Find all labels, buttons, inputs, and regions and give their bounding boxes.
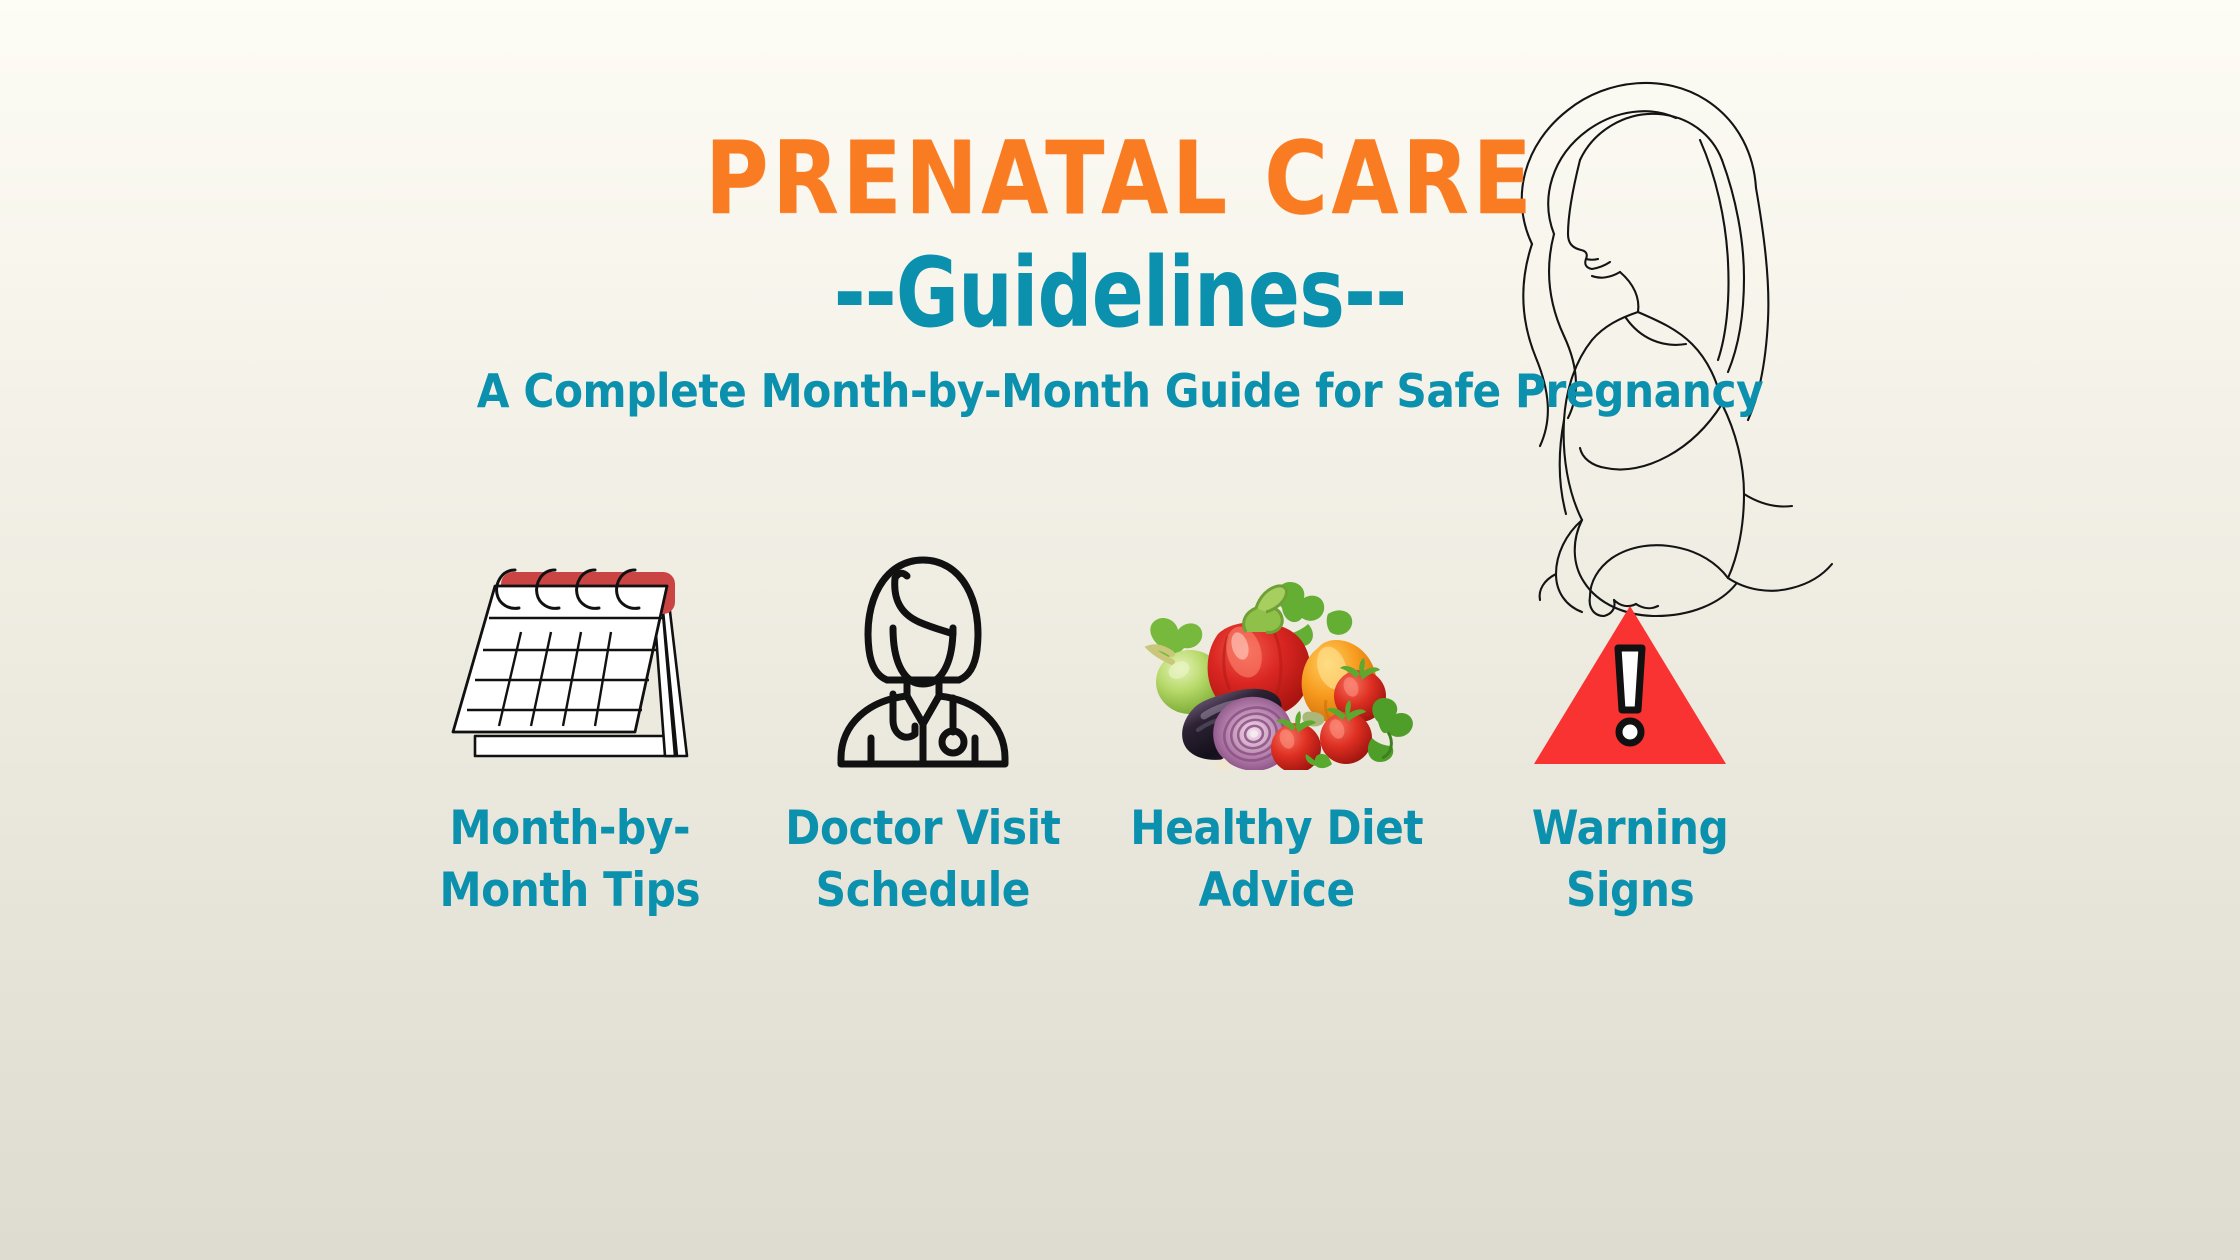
prenatal-care-poster: PRENATAL CARE --Guidelines-- A Complete … <box>0 0 2240 1260</box>
feature-label: Doctor Visit Schedule <box>786 798 1061 922</box>
feature-icon-slot <box>400 520 740 770</box>
feature-icon-slot <box>1460 520 1800 770</box>
page-title: PRENATAL CARE <box>157 0 2083 229</box>
page-subtitle: --Guidelines-- <box>224 229 2016 344</box>
feature-healthy-diet-advice: Healthy Diet Advice <box>1107 520 1447 922</box>
feature-row: Month-by- Month Tips <box>400 520 1800 922</box>
feature-month-by-month-tips: Month-by- Month Tips <box>400 520 740 922</box>
desk-calendar-icon <box>439 560 701 770</box>
headline-block: PRENATAL CARE --Guidelines-- A Complete … <box>0 0 2240 414</box>
feature-icon-slot <box>1107 520 1447 770</box>
feature-warning-signs: Warning Signs <box>1460 520 1800 922</box>
feature-icon-slot <box>753 520 1093 770</box>
feature-label: Healthy Diet Advice <box>1130 798 1423 922</box>
vegetables-icon <box>1132 570 1422 770</box>
feature-doctor-visit-schedule: Doctor Visit Schedule <box>753 520 1093 922</box>
feature-label: Month-by- Month Tips <box>440 798 701 922</box>
doctor-icon <box>823 538 1023 770</box>
warning-triangle-icon <box>1530 600 1730 770</box>
page-tagline: A Complete Month-by-Month Guide for Safe… <box>90 344 2151 414</box>
feature-label: Warning Signs <box>1532 798 1728 922</box>
